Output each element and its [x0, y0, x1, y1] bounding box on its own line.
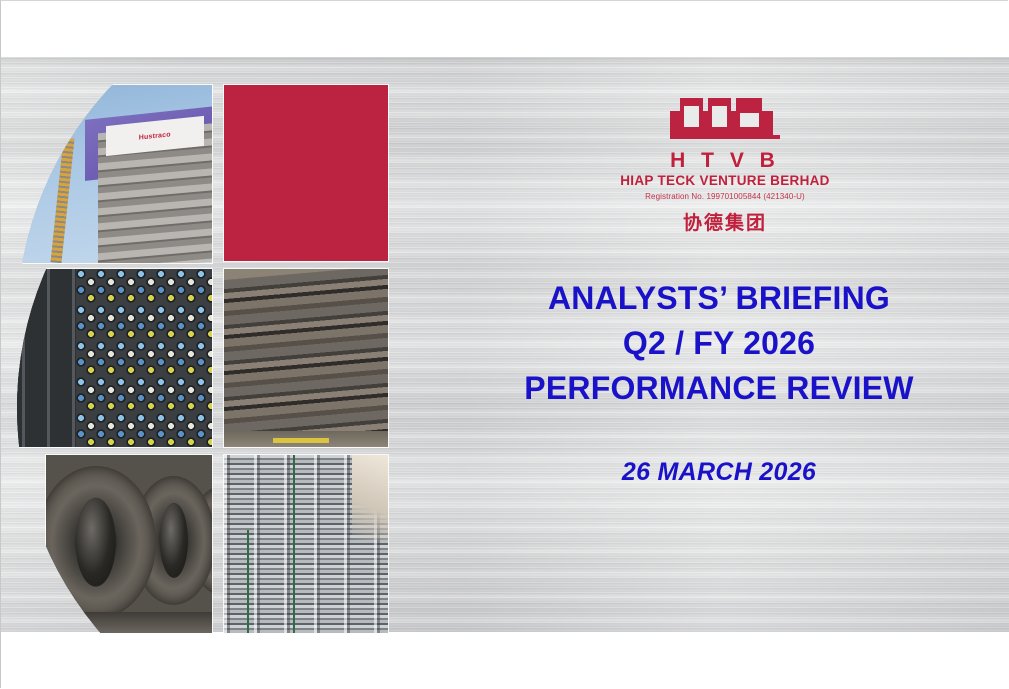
scaffold-green-marker [247, 530, 249, 633]
logo-chinese-name: 协德集团 [595, 208, 855, 235]
company-logo: H T V B HIAP TECK VENTURE BERHAD Registr… [595, 98, 855, 235]
htvb-building-mark-icon [670, 98, 780, 146]
logo-company-name: HIAP TECK VENTURE BERHAD [595, 173, 855, 190]
steel-coil [46, 466, 156, 619]
coil-eye [75, 498, 116, 587]
photo-collage: Hustraco [0, 85, 400, 633]
coil-eye [160, 503, 188, 577]
title-line-3: PERFORMANCE REVIEW [430, 366, 1008, 411]
slide-title: ANALYSTS’ BRIEFING Q2 / FY 2026 PERFORMA… [430, 276, 1008, 411]
title-line-1: ANALYSTS’ BRIEFING [430, 276, 1008, 321]
scaffold-daylight-gap [352, 455, 388, 540]
steel-plates-photo [224, 269, 388, 447]
round-pipes-bundle [76, 269, 212, 447]
logo-abbreviation: H T V B [595, 150, 855, 172]
logo-registration-number: Registration No. 199701005844 (421340-U) [595, 192, 855, 201]
scaffolding-photo [224, 455, 388, 633]
scaffold-green-marker [293, 455, 295, 633]
site-banner-text: Hustraco [139, 131, 171, 141]
steel-coils-photo [46, 455, 212, 633]
red-fill [224, 85, 388, 261]
title-line-2: Q2 / FY 2026 [430, 321, 1008, 366]
steel-pipes-photo [0, 269, 212, 447]
plates-stack [224, 269, 388, 447]
coils-floor [46, 612, 212, 633]
floor-marking-stripe [273, 438, 329, 443]
hollow-sections-stack [0, 269, 81, 447]
slide-date: 26 MARCH 2026 [430, 458, 1008, 487]
construction-building-photo: Hustraco [0, 85, 212, 263]
red-color-block [224, 85, 388, 261]
presentation-slide: Hustraco [0, 0, 1009, 689]
